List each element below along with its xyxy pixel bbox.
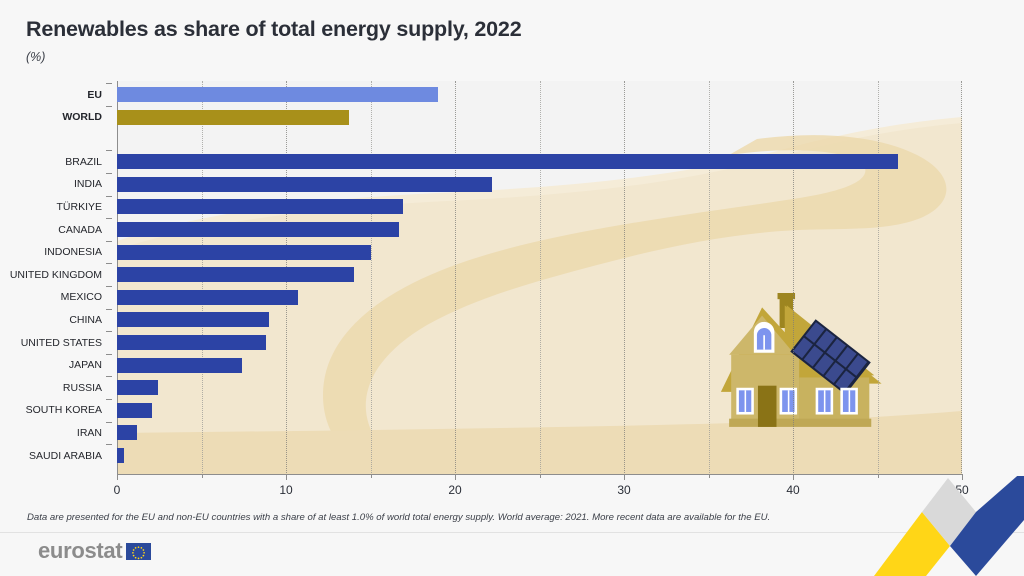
category-label-mexico: MEXICO (0, 292, 102, 303)
x-tick (962, 475, 963, 480)
y-tick (106, 399, 112, 400)
chart-footnote: Data are presented for the EU and non-EU… (27, 512, 770, 523)
x-minor-tick (371, 475, 372, 478)
eurostat-logo-text: eurostat (38, 540, 122, 562)
category-label-united-kingdom: UNITED KINGDOM (0, 270, 102, 281)
y-tick (106, 354, 112, 355)
y-tick (106, 444, 112, 445)
category-label-türkiye: TÜRKIYE (0, 202, 102, 213)
y-tick (106, 218, 112, 219)
bar-japan[interactable] (117, 358, 242, 373)
category-label-world: WORLD (0, 112, 102, 123)
y-tick (106, 422, 112, 423)
y-tick (106, 376, 112, 377)
bar-india[interactable] (117, 177, 492, 192)
category-label-eu: EU (0, 90, 102, 101)
x-minor-tick (709, 475, 710, 478)
bar-saudi-arabia[interactable] (117, 448, 124, 463)
x-tick-label: 10 (279, 483, 292, 497)
infographic-root: Renewables as share of total energy supp… (0, 0, 1024, 576)
x-tick (286, 475, 287, 480)
bar-mexico[interactable] (117, 290, 298, 305)
x-tick (455, 475, 456, 480)
eurostat-logo: eurostat (38, 540, 151, 562)
category-label-india: INDIA (0, 179, 102, 190)
bar-canada[interactable] (117, 222, 399, 237)
category-label-china: CHINA (0, 315, 102, 326)
y-tick (106, 263, 112, 264)
y-tick (106, 196, 112, 197)
bar-china[interactable] (117, 312, 269, 327)
bar-united-states[interactable] (117, 335, 266, 350)
category-label-united-states: UNITED STATES (0, 338, 102, 349)
x-tick-label: 20 (448, 483, 461, 497)
bar-iran[interactable] (117, 425, 137, 440)
footer-divider (0, 532, 1024, 533)
y-tick (106, 83, 112, 84)
bar-south-korea[interactable] (117, 403, 152, 418)
bars-container (117, 81, 962, 475)
x-tick-label: 0 (114, 483, 121, 497)
y-tick (106, 241, 112, 242)
y-tick (106, 173, 112, 174)
chart-header: Renewables as share of total energy supp… (26, 18, 986, 64)
bar-eu[interactable] (117, 87, 438, 102)
y-tick (106, 286, 112, 287)
category-label-iran: IRAN (0, 428, 102, 439)
bar-türkiye[interactable] (117, 199, 403, 214)
category-label-indonesia: INDONESIA (0, 247, 102, 258)
category-label-japan: JAPAN (0, 360, 102, 371)
category-labels-container: EUWORLDBRAZILINDIATÜRKIYECANADAINDONESIA… (0, 81, 112, 475)
x-tick-label: 40 (786, 483, 799, 497)
x-tick (624, 475, 625, 480)
x-tick-label: 30 (617, 483, 630, 497)
x-minor-tick (878, 475, 879, 478)
bar-world[interactable] (117, 110, 349, 125)
x-minor-tick (202, 475, 203, 478)
y-tick (106, 331, 112, 332)
category-label-russia: RUSSIA (0, 383, 102, 394)
eu-flag-icon (126, 543, 151, 560)
x-tick-label: 50 (955, 483, 968, 497)
category-label-south-korea: SOUTH KOREA (0, 405, 102, 416)
x-axis: 01020304050 (117, 475, 963, 505)
y-tick (106, 309, 112, 310)
x-tick (793, 475, 794, 480)
bar-russia[interactable] (117, 380, 158, 395)
y-tick (106, 150, 112, 151)
y-tick (106, 106, 112, 107)
bar-united-kingdom[interactable] (117, 267, 354, 282)
chart-unit-label: (%) (26, 50, 986, 64)
category-label-canada: CANADA (0, 225, 102, 236)
bar-indonesia[interactable] (117, 245, 371, 260)
page-title: Renewables as share of total energy supp… (26, 18, 986, 42)
category-label-brazil: BRAZIL (0, 157, 102, 168)
x-minor-tick (540, 475, 541, 478)
bar-brazil[interactable] (117, 154, 898, 169)
category-label-saudi-arabia: SAUDI ARABIA (0, 451, 102, 462)
x-tick (117, 475, 118, 480)
